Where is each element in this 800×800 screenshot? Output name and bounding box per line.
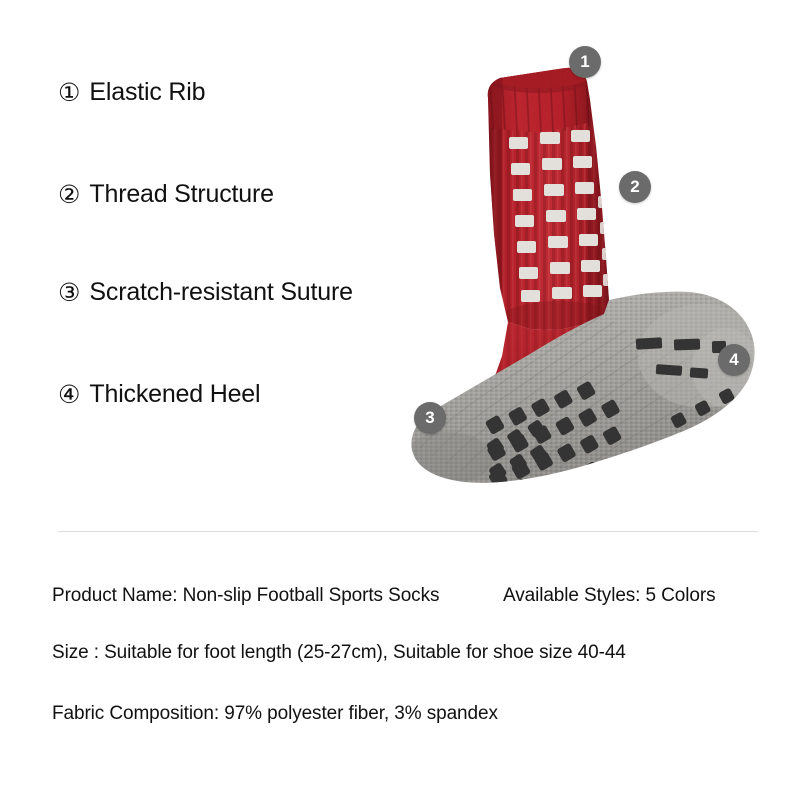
spec-product-name: Product Name: Non-slip Football Sports S… <box>52 585 439 607</box>
callout-marker-2: 2 <box>619 171 651 203</box>
callout-marker-1: 1 <box>569 46 601 78</box>
spec-size: Size : Suitable for foot length (25-27cm… <box>52 642 626 664</box>
feature-label: Elastic Rib <box>89 80 205 105</box>
callout-marker-3: 3 <box>414 402 446 434</box>
circled-number-2-icon: ② <box>58 182 80 207</box>
circled-number-4-icon: ④ <box>58 382 80 407</box>
feature-item-thread-structure: ② Thread Structure <box>58 182 274 207</box>
feature-item-elastic-rib: ① Elastic Rib <box>58 80 205 105</box>
product-photo-sock <box>390 38 770 510</box>
spec-available-styles: Available Styles: 5 Colors <box>503 585 716 607</box>
circled-number-3-icon: ③ <box>58 280 80 305</box>
feature-label: Thread Structure <box>89 182 273 207</box>
product-infographic: ① Elastic Rib ② Thread Structure ③ Scrat… <box>0 0 800 800</box>
feature-item-scratch-resistant-suture: ③ Scratch-resistant Suture <box>58 280 353 305</box>
spec-fabric-composition: Fabric Composition: 97% polyester fiber,… <box>52 703 498 725</box>
feature-label: Scratch-resistant Suture <box>89 280 352 305</box>
callout-marker-4: 4 <box>718 344 750 376</box>
feature-item-thickened-heel: ④ Thickened Heel <box>58 382 260 407</box>
feature-label: Thickened Heel <box>89 382 260 407</box>
circled-number-1-icon: ① <box>58 80 80 105</box>
section-divider <box>58 531 758 532</box>
